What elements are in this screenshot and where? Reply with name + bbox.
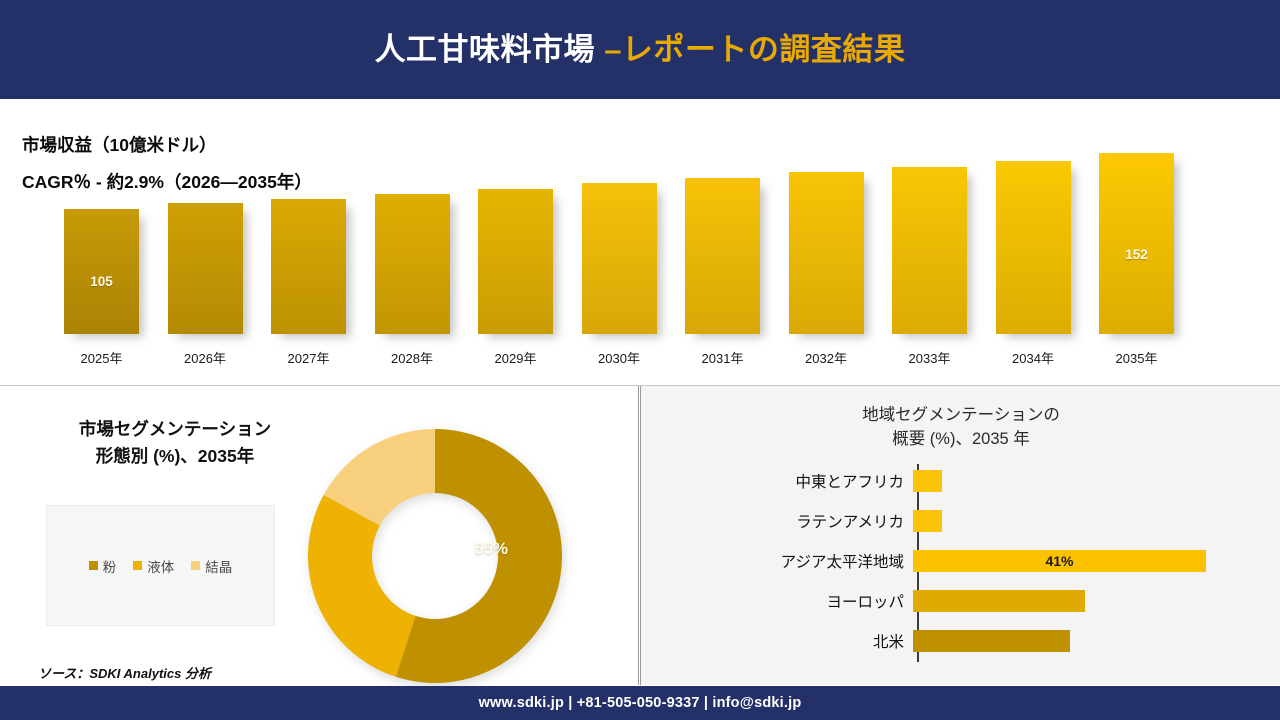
bar-category-label: 2028年 — [363, 348, 462, 367]
bar-column: 2026年 — [168, 203, 243, 334]
region-category-label: 中東とアフリカ — [641, 470, 913, 492]
region-bar-value-label: 41% — [1045, 553, 1073, 569]
region-bar-track: 41% — [913, 542, 1280, 580]
page-header: 人工甘味料市場 –レポートの調査結果 — [0, 0, 1280, 99]
bar-shape: 105 — [64, 209, 139, 334]
bar-shape — [271, 199, 346, 334]
region-category-label: アジア太平洋地域 — [641, 550, 913, 572]
region-bar-track — [913, 462, 1280, 500]
legend-item: 液体 — [133, 556, 174, 576]
bar-value-label: 152 — [1099, 247, 1174, 262]
donut-legend: 粉液体結晶 — [46, 505, 275, 626]
bar-column: 2032年 — [789, 172, 864, 334]
region-bar-row: 北米 — [641, 622, 1280, 660]
bar-category-label: 2034年 — [984, 348, 1083, 367]
bar-category-label: 2025年 — [52, 348, 151, 367]
page-title: 人工甘味料市場 –レポートの調査結果 — [375, 34, 906, 65]
bar-column: 2029年 — [478, 189, 553, 334]
bar-shape — [375, 194, 450, 334]
bar-column: 2034年 — [996, 161, 1071, 334]
region-bar — [913, 630, 1070, 652]
bar-column: 2030年 — [582, 183, 657, 334]
bar-column: 2033年 — [892, 167, 967, 334]
bar-value-label: 105 — [64, 274, 139, 289]
bar-shape — [582, 183, 657, 334]
bar-column: 2031年 — [685, 178, 760, 334]
region-bar-track — [913, 622, 1280, 660]
donut-title-line-2: 形態別 (%)、2035年 — [30, 443, 320, 470]
bar-category-label: 2027年 — [259, 348, 358, 367]
region-bar-row: ラテンアメリカ — [641, 502, 1280, 540]
bar-column: 2028年 — [375, 194, 450, 334]
region-bar-row: アジア太平洋地域41% — [641, 542, 1280, 580]
legend-item: 結晶 — [191, 556, 232, 576]
bar-category-label: 2035年 — [1087, 348, 1186, 367]
bar-shape — [789, 172, 864, 334]
bar-shape — [685, 178, 760, 334]
region-category-label: ラテンアメリカ — [641, 510, 913, 532]
region-category-label: 北米 — [641, 630, 913, 652]
source-note: ソース：SDKI Analytics 分析 — [38, 663, 211, 682]
bar-shape — [892, 167, 967, 334]
legend-item-label: 液体 — [147, 556, 174, 576]
region-bar — [913, 470, 942, 492]
region-title-line-1: 地域セグメンテーションの — [641, 404, 1280, 428]
donut-segment — [308, 495, 416, 677]
bar-column: 1522035年 — [1099, 153, 1174, 334]
bar-column: 1052025年 — [64, 209, 139, 334]
bar-category-label: 2029年 — [466, 348, 565, 367]
region-bar: 41% — [913, 550, 1206, 572]
region-category-label: ヨーロッパ — [641, 590, 913, 612]
donut-title-line-1: 市場セグメンテーション — [30, 416, 320, 443]
region-bar-track — [913, 582, 1280, 620]
region-bar-row: ヨーロッパ — [641, 582, 1280, 620]
revenue-bars-area: 1052025年2026年2027年2028年2029年2030年2031年20… — [0, 99, 1280, 386]
donut-chart-svg — [306, 427, 564, 685]
page-title-main: 人工甘味料市場 — [375, 32, 605, 67]
region-segmentation-panel: 地域セグメンテーションの 概要 (%)、2035 年 中東とアフリカラテンアメリ… — [640, 386, 1280, 685]
footer-contact-text: www.sdki.jp | +81-505-050-9337 | info@sd… — [479, 695, 802, 711]
region-chart-title: 地域セグメンテーションの 概要 (%)、2035 年 — [641, 404, 1280, 452]
bar-category-label: 2031年 — [673, 348, 772, 367]
donut-chart: 55% — [306, 427, 564, 685]
bar-category-label: 2033年 — [880, 348, 979, 367]
page-title-sub: –レポートの調査結果 — [604, 32, 905, 67]
bar-shape — [478, 189, 553, 334]
donut-primary-value-label: 55% — [474, 539, 508, 559]
bar-category-label: 2032年 — [777, 348, 876, 367]
bar-column: 2027年 — [271, 199, 346, 334]
legend-item-label: 粉 — [103, 556, 117, 576]
legend-item: 粉 — [89, 556, 117, 576]
region-plot-area: 中東とアフリカラテンアメリカアジア太平洋地域41%ヨーロッパ北米 — [641, 462, 1280, 672]
bar-shape — [996, 161, 1071, 334]
page-footer: www.sdki.jp | +81-505-050-9337 | info@sd… — [0, 686, 1280, 720]
region-bar — [913, 510, 942, 532]
bar-shape: 152 — [1099, 153, 1174, 334]
region-bar-track — [913, 502, 1280, 540]
revenue-bar-chart-panel: 市場収益（10億米ドル） CAGR％ - 約2.9%（2026―2035年） 1… — [0, 99, 1280, 386]
legend-swatch-icon — [89, 561, 98, 570]
region-title-line-2: 概要 (%)、2035 年 — [641, 428, 1280, 452]
legend-item-label: 結晶 — [205, 556, 232, 576]
legend-swatch-icon — [133, 561, 142, 570]
bar-category-label: 2030年 — [570, 348, 669, 367]
region-bar — [913, 590, 1085, 612]
bar-shape — [168, 203, 243, 334]
bar-category-label: 2026年 — [156, 348, 255, 367]
donut-chart-title: 市場セグメンテーション 形態別 (%)、2035年 — [30, 416, 320, 470]
region-bar-row: 中東とアフリカ — [641, 462, 1280, 500]
legend-swatch-icon — [191, 561, 200, 570]
